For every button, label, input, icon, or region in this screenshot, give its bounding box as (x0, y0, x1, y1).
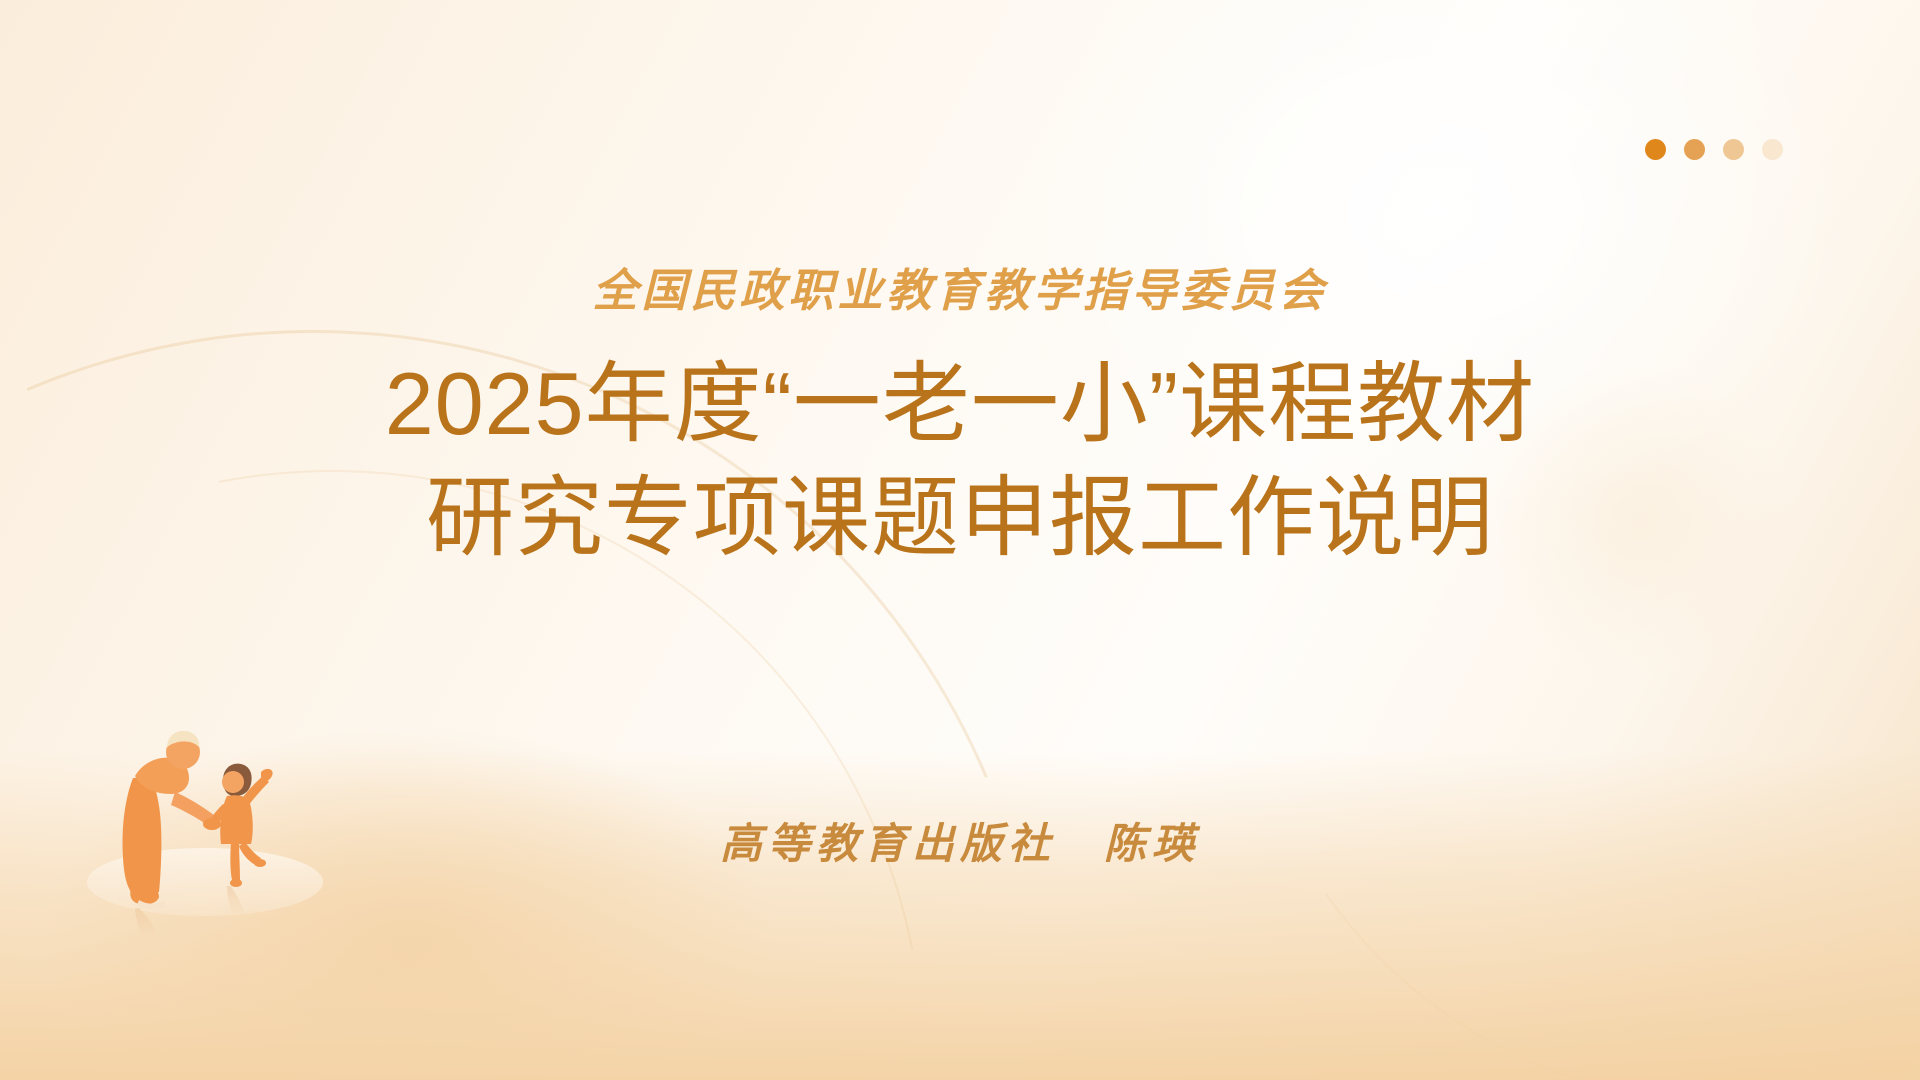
title-line-1: 2025年度“一老一小”课程教材 (385, 347, 1535, 461)
ground-ellipse (87, 848, 323, 916)
page-title: 2025年度“一老一小”课程教材 研究专项课题申报工作说明 (385, 347, 1535, 576)
elderly-and-child-illustration (55, 700, 355, 950)
title-line-2: 研究专项课题申报工作说明 (385, 461, 1535, 575)
organization-name: 全国民政职业教育教学指导委员会 (592, 268, 1327, 313)
joined-hands (203, 818, 221, 830)
child-head (222, 771, 244, 793)
title-slide: 全国民政职业教育教学指导委员会 2025年度“一老一小”课程教材 研究专项课题申… (0, 0, 1920, 1080)
